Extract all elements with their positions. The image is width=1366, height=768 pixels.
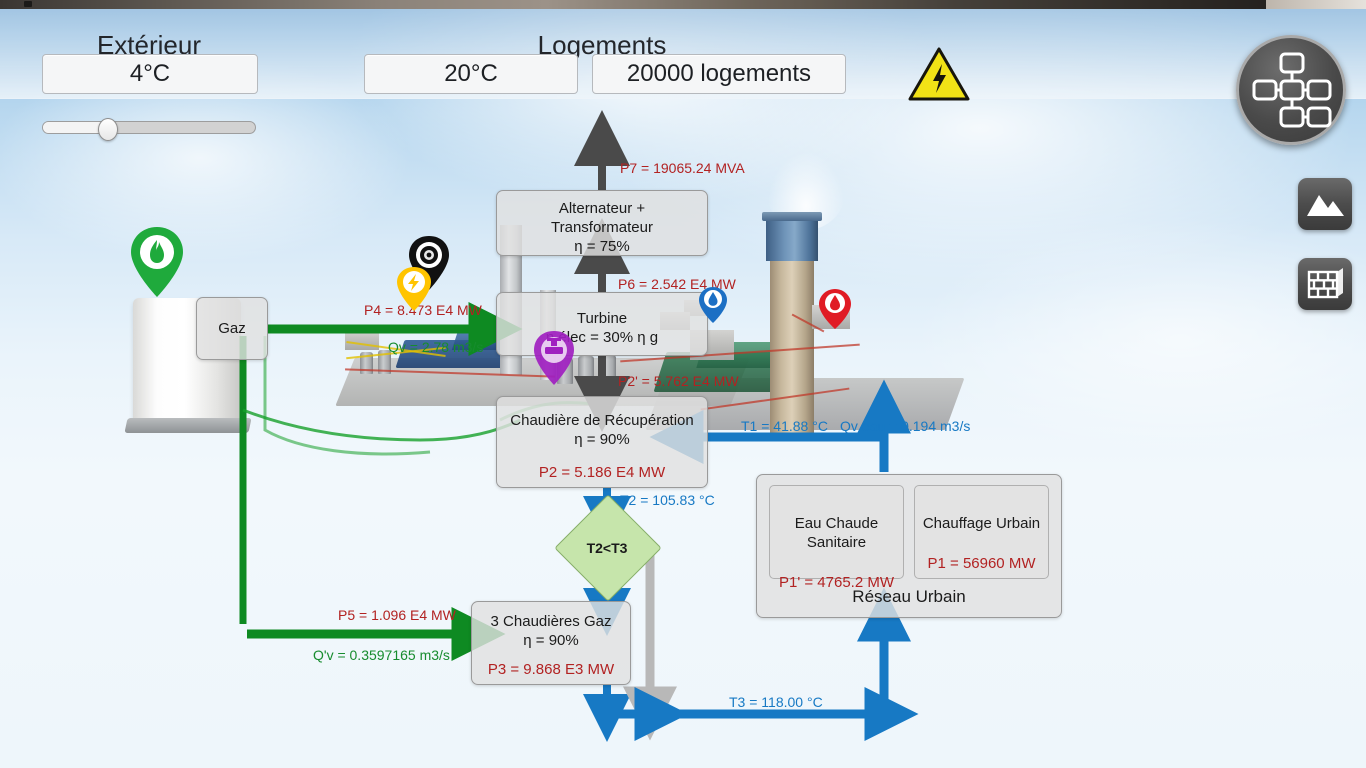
decision-label: T2<T3 — [570, 540, 644, 556]
wall-view-button[interactable] — [1298, 258, 1352, 310]
alternator-line1: Alternateur + — [497, 199, 707, 218]
recovery-boiler-box[interactable]: Chaudière de Récupération η = 90% P2 = 5… — [496, 396, 708, 488]
turbine-line2: η élec = 30% η g — [497, 328, 707, 347]
gas-boilers-line1: 3 Chaudières Gaz — [472, 612, 630, 631]
gas-box-label: Gaz — [218, 319, 246, 338]
gas-flame-pin[interactable] — [128, 226, 186, 298]
urban-heating-box[interactable]: Chauffage Urbain P1 = 56960 MW — [914, 485, 1049, 579]
slider-thumb[interactable] — [98, 118, 118, 141]
valve-pin[interactable] — [532, 330, 576, 386]
brick-wall-icon — [1298, 258, 1352, 310]
label-qv: Qv = 2.78 m3/s — [388, 339, 483, 355]
logements-temperature-field[interactable]: 20°C — [364, 54, 578, 94]
terrain-view-button[interactable] — [1298, 178, 1352, 230]
header-panel: Extérieur 4°C Logements 20°C 20000 logem… — [0, 9, 1366, 99]
turbine-box[interactable]: Turbine η élec = 30% η g — [496, 292, 708, 356]
title-strip-dot — [24, 1, 32, 7]
title-strip-right — [1266, 0, 1366, 9]
recovery-boiler-line1: Chaudière de Récupération — [497, 411, 707, 430]
recovery-boiler-power: P2 = 5.186 E4 MW — [497, 464, 707, 481]
simulation-slider[interactable] — [42, 118, 256, 136]
urban-heating-power: P1 = 56960 MW — [915, 555, 1048, 572]
gas-boilers-power: P3 = 9.868 E3 MW — [472, 661, 630, 678]
hot-water-power: P1' = 4765.2 MW — [770, 574, 903, 591]
alternator-line2: Transformateur — [497, 218, 707, 237]
exterior-temperature-field[interactable]: 4°C — [42, 54, 258, 94]
hot-water-pin[interactable] — [818, 288, 852, 330]
alternator-box[interactable]: Alternateur + Transformateur η = 75% — [496, 190, 708, 256]
mountain-icon — [1298, 178, 1352, 230]
label-t3: T3 = 118.00 °C — [729, 694, 823, 710]
label-t1: T1 = 41.88 °C — [741, 418, 828, 434]
hot-water-box[interactable]: Eau Chaude Sanitaire P1' = 4765.2 MW — [769, 485, 904, 579]
label-p2-prime: P2' = 5.762 E4 MW — [618, 373, 739, 389]
network-diagram-icon — [1239, 38, 1343, 142]
urban-network-box[interactable]: Eau Chaude Sanitaire P1' = 4765.2 MW Cha… — [756, 474, 1062, 618]
label-qv-prime: Q'v = 0.3597165 m3/s — [313, 647, 450, 663]
label-p5: P5 = 1.096 E4 MW — [338, 607, 456, 623]
label-qv-eau: Qv eau = 0.194 m3/s — [840, 418, 970, 434]
label-t2: T2 = 105.83 °C — [620, 492, 715, 508]
logements-count-field[interactable]: 20000 logements — [592, 54, 846, 94]
window-title-strip — [0, 0, 1366, 9]
urban-heating-label: Chauffage Urbain — [915, 514, 1048, 533]
electricity-pin[interactable] — [396, 266, 432, 312]
turbine-line1: Turbine — [497, 309, 707, 328]
gas-box[interactable]: Gaz — [196, 297, 268, 360]
slider-fill — [43, 122, 105, 133]
high-voltage-warning-icon — [908, 47, 970, 101]
network-diagram-button[interactable] — [1236, 35, 1346, 145]
recovery-boiler-line2: η = 90% — [497, 430, 707, 449]
hot-water-label: Eau Chaude Sanitaire — [770, 514, 903, 552]
alternator-line3: η = 75% — [497, 237, 707, 256]
gas-boilers-box[interactable]: 3 Chaudières Gaz η = 90% P3 = 9.868 E3 M… — [471, 601, 631, 685]
app-stage: Gaz Alternateur + Transformateur η = 75%… — [0, 0, 1366, 768]
label-p7: P7 = 19065.24 MVA — [620, 160, 745, 176]
gas-boilers-line2: η = 90% — [472, 631, 630, 650]
cold-water-pin[interactable] — [698, 286, 728, 324]
